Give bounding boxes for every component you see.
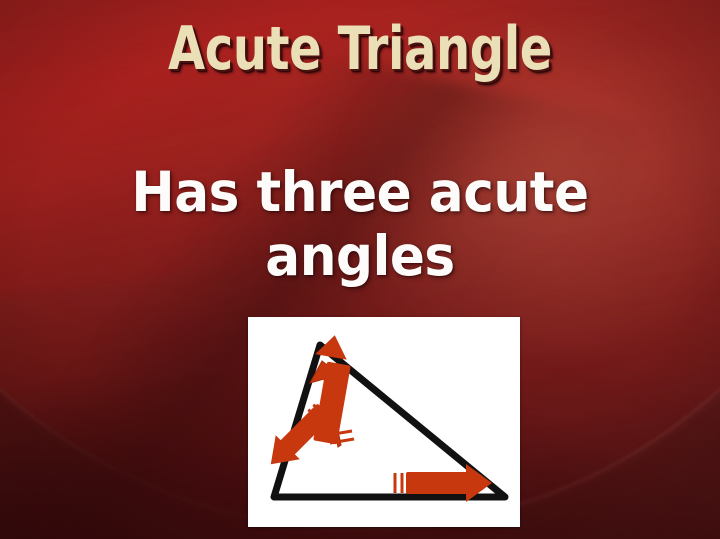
slide-body-text: Has three acute angles — [59, 160, 661, 288]
slide: Acute Triangle Has three acute angles — [0, 0, 720, 539]
acute-triangle-diagram — [248, 317, 520, 527]
body-line-2: angles — [59, 224, 661, 288]
triangle-picture — [248, 317, 520, 527]
body-line-1: Has three acute — [59, 160, 661, 224]
slide-title: Acute Triangle — [72, 16, 648, 82]
